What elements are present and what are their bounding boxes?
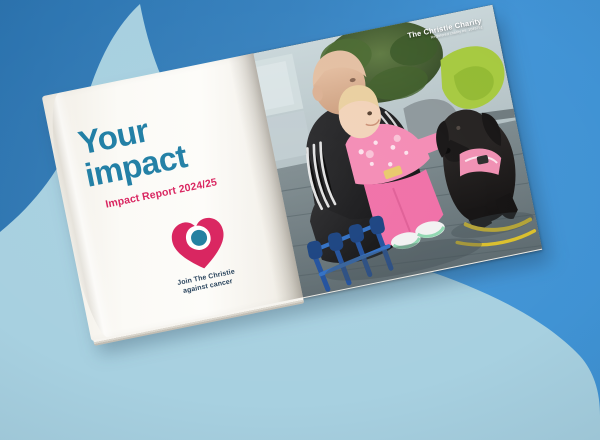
charity-logo-block: Join The Christie against cancer	[140, 207, 263, 302]
cover-page-edge	[93, 297, 304, 346]
booklet: The Christie Charity Registered charity …	[42, 5, 543, 342]
mockup-scene: The Christie Charity Registered charity …	[0, 0, 600, 440]
logo-tagline: Join The Christie against cancer	[152, 263, 263, 302]
booklet-container: The Christie Charity Registered charity …	[0, 0, 600, 440]
cover-title-block: Your impact Impact Report 2024/25	[76, 93, 265, 213]
heart-logo-icon	[167, 213, 232, 275]
